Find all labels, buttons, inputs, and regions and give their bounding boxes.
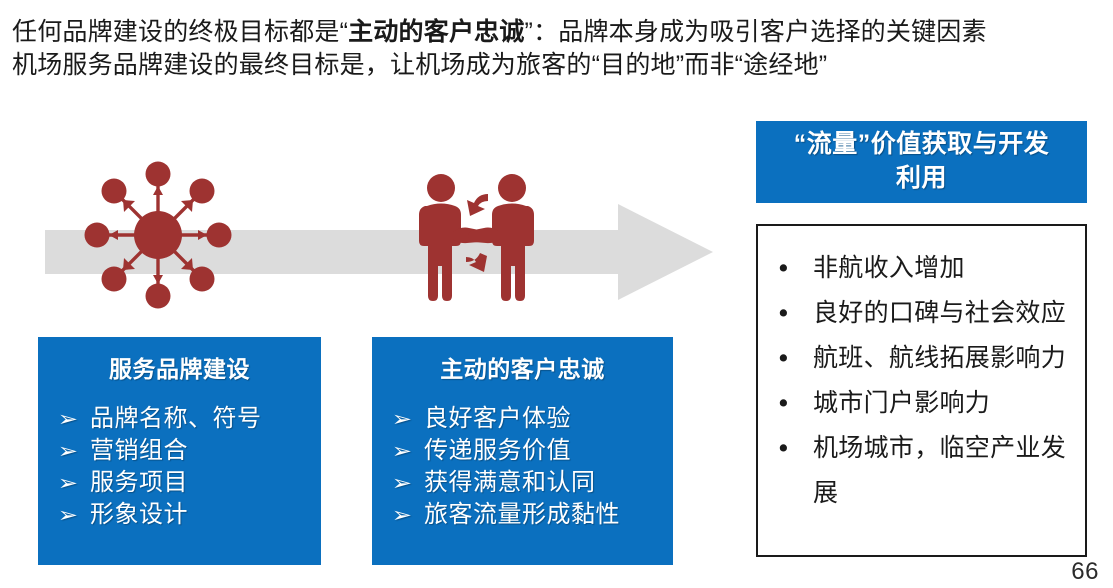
list-item[interactable]: ➢服务项目 xyxy=(38,467,321,499)
list-item[interactable]: •机场城市，临空产业发展 xyxy=(758,426,1085,516)
arrow-bullet-icon: ➢ xyxy=(392,468,427,499)
card-bullet-list: ➢品牌名称、符号 ➢营销组合 ➢服务项目 ➢形象设计 xyxy=(38,383,321,531)
card-title: 服务品牌建设 xyxy=(38,337,321,383)
page-title-line-2: 机场服务品牌建设的最终目标是，让机场成为旅客的“目的地”而非“途经地” xyxy=(12,49,1102,82)
arrow-bullet-icon: ➢ xyxy=(392,500,427,531)
card-title: 主动的客户忠诚 xyxy=(372,337,673,383)
arrow-bullet-icon: ➢ xyxy=(58,436,93,467)
list-item-label: 良好的口碑与社会效应 xyxy=(813,291,1085,336)
list-item[interactable]: ➢品牌名称、符号 xyxy=(38,403,321,435)
list-item[interactable]: ➢良好客户体验 xyxy=(372,403,673,435)
card-service-brand-building[interactable]: 服务品牌建设 ➢品牌名称、符号 ➢营销组合 ➢服务项目 ➢形象设计 xyxy=(38,337,321,565)
dot-bullet-icon: • xyxy=(776,336,813,381)
dot-bullet-icon: • xyxy=(776,426,813,471)
panel-header-line-1: “流量”价值获取与开发 xyxy=(756,127,1087,161)
list-item[interactable]: ➢传递服务价值 xyxy=(372,435,673,467)
page-title-emphasis: 主动的客户忠诚 xyxy=(348,18,524,46)
list-item-label: 城市门户影响力 xyxy=(813,381,1085,426)
list-item-label: 非航收入增加 xyxy=(813,246,1085,291)
list-item[interactable]: •航班、航线拓展影响力 xyxy=(758,336,1085,381)
list-item-label: 航班、航线拓展影响力 xyxy=(813,336,1085,381)
list-item[interactable]: ➢营销组合 xyxy=(38,435,321,467)
list-item[interactable]: •良好的口碑与社会效应 xyxy=(758,291,1085,336)
list-item-label: 获得满意和认同 xyxy=(424,467,596,498)
page-title: 任何品牌建设的终极目标都是“主动的客户忠诚”：品牌本身成为吸引客户选择的关键因素… xyxy=(12,16,1102,82)
list-item[interactable]: •非航收入增加 xyxy=(758,246,1085,291)
list-item-label: 形象设计 xyxy=(90,499,188,530)
list-item-label: 旅客流量形成黏性 xyxy=(424,499,620,530)
list-item[interactable]: •城市门户影响力 xyxy=(758,381,1085,426)
arrow-bullet-icon: ➢ xyxy=(392,436,427,467)
panel-bullet-list: •非航收入增加 •良好的口碑与社会效应 •航班、航线拓展影响力 •城市门户影响力… xyxy=(758,226,1085,516)
list-item[interactable]: ➢获得满意和认同 xyxy=(372,467,673,499)
panel-body-outcomes: •非航收入增加 •良好的口碑与社会效应 •航班、航线拓展影响力 •城市门户影响力… xyxy=(756,224,1087,557)
list-item[interactable]: ➢形象设计 xyxy=(38,499,321,531)
arrow-bullet-icon: ➢ xyxy=(58,468,93,499)
dot-bullet-icon: • xyxy=(776,291,813,336)
card-bullet-list: ➢良好客户体验 ➢传递服务价值 ➢获得满意和认同 ➢旅客流量形成黏性 xyxy=(372,383,673,531)
page-number: 66 xyxy=(1071,558,1099,586)
page-title-line-1-prefix: 任何品牌建设的终极目标都是“ xyxy=(12,18,348,46)
list-item-label: 品牌名称、符号 xyxy=(90,403,262,434)
page-title-line-1-suffix: ”：品牌本身成为吸引客户选择的关键因素 xyxy=(525,18,987,46)
list-item-label: 营销组合 xyxy=(90,435,188,466)
arrow-bullet-icon: ➢ xyxy=(58,500,93,531)
panel-header-line-2: 利用 xyxy=(756,161,1087,195)
hub-and-spoke-icon xyxy=(83,160,233,310)
slide-canvas: 任何品牌建设的终极目标都是“主动的客户忠诚”：品牌本身成为吸引客户选择的关键因素… xyxy=(0,0,1113,588)
list-item-label: 机场城市，临空产业发展 xyxy=(813,426,1085,516)
arrow-bullet-icon: ➢ xyxy=(58,404,93,435)
dot-bullet-icon: • xyxy=(776,246,813,291)
list-item-label: 传递服务价值 xyxy=(424,435,571,466)
page-title-line-1: 任何品牌建设的终极目标都是“主动的客户忠诚”：品牌本身成为吸引客户选择的关键因素 xyxy=(12,16,1102,49)
list-item-label: 服务项目 xyxy=(90,467,188,498)
arrow-bullet-icon: ➢ xyxy=(392,404,427,435)
dot-bullet-icon: • xyxy=(776,381,813,426)
list-item-label: 良好客户体验 xyxy=(424,403,571,434)
list-item[interactable]: ➢旅客流量形成黏性 xyxy=(372,499,673,531)
card-active-customer-loyalty[interactable]: 主动的客户忠诚 ➢良好客户体验 ➢传递服务价值 ➢获得满意和认同 ➢旅客流量形成… xyxy=(372,337,673,565)
handshake-exchange-icon xyxy=(414,172,539,304)
panel-header-traffic-value: “流量”价值获取与开发 利用 xyxy=(756,121,1087,203)
